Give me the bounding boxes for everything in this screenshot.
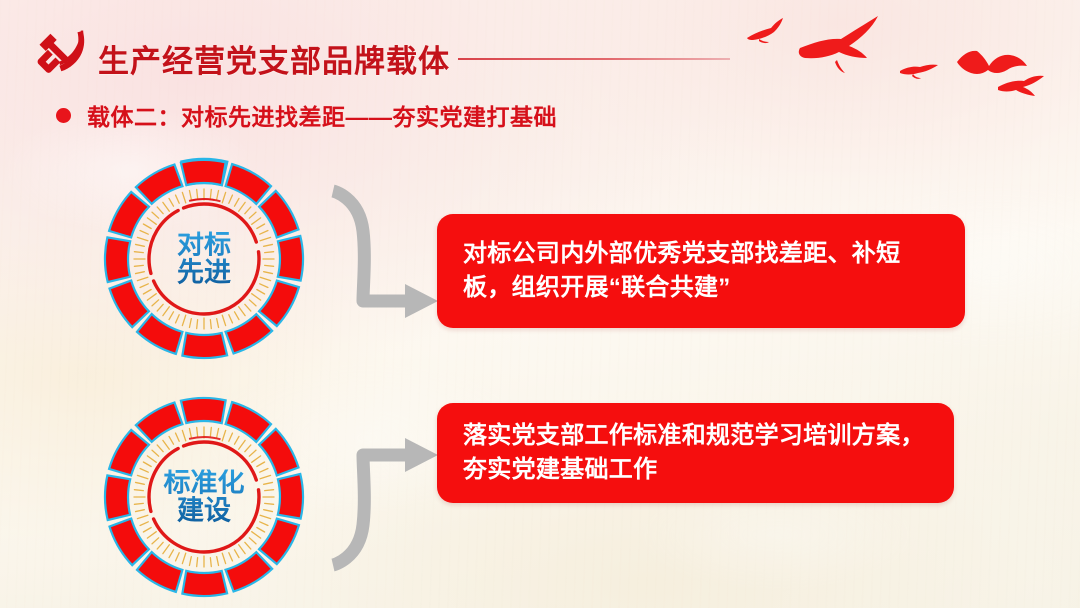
page-title: 生产经营党支部品牌载体 xyxy=(98,36,450,81)
content-box: 对标公司内外部优秀党支部找差距、补短板，组织开展“联合共建” xyxy=(437,214,965,328)
content-box: 落实党支部工作标准和规范学习培训方案，夯实党建基础工作 xyxy=(437,403,954,503)
content-box-text: 落实党支部工作标准和规范学习培训方案，夯实党建基础工作 xyxy=(463,419,930,487)
subtitle-label: 载体二：对标先进找差距——夯实党建打基础 xyxy=(87,98,557,132)
segmented-ring-badge-icon: 对标 先进 xyxy=(100,155,308,363)
badge-ring-graphic xyxy=(100,393,308,601)
curved-arrow-up-right-icon xyxy=(325,408,445,573)
party-hammer-sickle-icon xyxy=(30,29,88,77)
segmented-ring-badge-icon: 标准化 建设 xyxy=(100,393,308,601)
title-divider xyxy=(458,58,730,60)
slide-canvas: 生产经营党支部品牌载体 载体二：对标先进找差距——夯实党建打基础 xyxy=(0,0,1080,608)
content-box-text: 对标公司内外部优秀党支部找差距、补短板，组织开展“联合共建” xyxy=(463,237,941,305)
slide-header: 生产经营党支部品牌载体 xyxy=(0,0,1080,92)
badge-ring-graphic xyxy=(100,155,308,363)
bullet-dot-icon xyxy=(56,108,71,123)
subtitle-row: 载体二：对标先进找差距——夯实党建打基础 xyxy=(56,98,557,132)
flying-birds-icon xyxy=(745,8,1075,113)
curved-arrow-down-right-icon xyxy=(325,183,445,343)
